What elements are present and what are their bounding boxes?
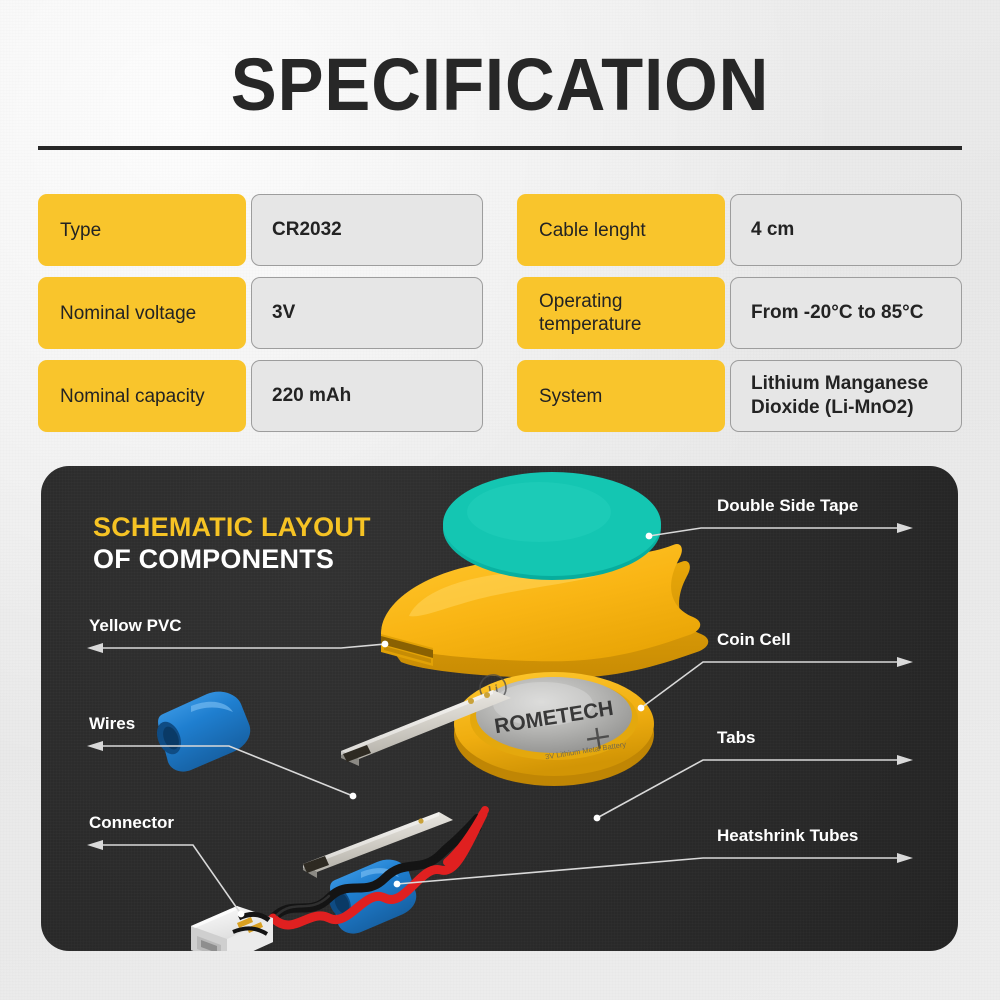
spec-key: Type <box>38 194 246 266</box>
callout-label-tabs: Tabs <box>717 728 755 748</box>
callout-label-wires: Wires <box>89 714 135 734</box>
specification-table: Type CR2032 Cable lenght 4 cm Nominal vo… <box>38 194 962 432</box>
spec-value: CR2032 <box>251 194 483 266</box>
spec-value: Lithium Manganese Dioxide (Li-MnO2) <box>730 360 962 432</box>
callout-label-yellow-pvc: Yellow PVC <box>89 616 182 636</box>
spec-key: System <box>517 360 725 432</box>
schematic-heading-line1: SCHEMATIC LAYOUT <box>93 511 371 543</box>
spec-key: Nominal capacity <box>38 360 246 432</box>
schematic-panel: ROMETECH Li 3V Lithium Metal Battery <box>41 466 958 951</box>
schematic-heading-line2: OF COMPONENTS <box>93 543 371 575</box>
callout-label-heatshrink-tubes: Heatshrink Tubes <box>717 826 858 846</box>
spec-value: 4 cm <box>730 194 962 266</box>
spec-key: Cable lenght <box>517 194 725 266</box>
spec-row: System Lithium Manganese Dioxide (Li-MnO… <box>517 360 962 432</box>
spec-row: Nominal voltage 3V <box>38 277 483 349</box>
spec-key: Operating temperature <box>517 277 725 349</box>
callout-label-connector: Connector <box>89 813 174 833</box>
header: SPECIFICATION <box>38 46 962 124</box>
spec-row: Type CR2032 <box>38 194 483 266</box>
callout-label-coin-cell: Coin Cell <box>717 630 791 650</box>
spec-value: From -20°C to 85°C <box>730 277 962 349</box>
callout-label-double-side-tape: Double Side Tape <box>717 496 858 516</box>
spec-key: Nominal voltage <box>38 277 246 349</box>
spec-row: Nominal capacity 220 mAh <box>38 360 483 432</box>
schematic-heading: SCHEMATIC LAYOUT OF COMPONENTS <box>93 511 371 575</box>
header-divider <box>38 146 962 150</box>
page-title: SPECIFICATION <box>70 46 929 124</box>
spec-row: Operating temperature From -20°C to 85°C <box>517 277 962 349</box>
spec-value: 220 mAh <box>251 360 483 432</box>
spec-value: 3V <box>251 277 483 349</box>
spec-row: Cable lenght 4 cm <box>517 194 962 266</box>
